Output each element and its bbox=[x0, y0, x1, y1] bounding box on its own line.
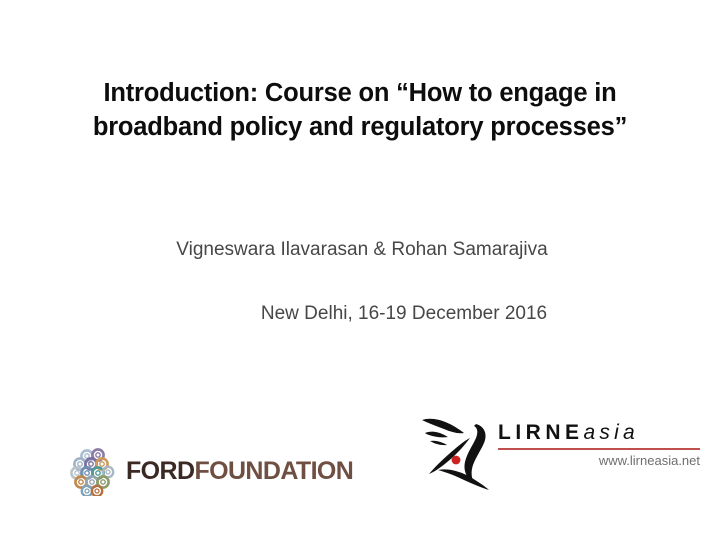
ford-foundation-wordmark: FORDFOUNDATION bbox=[126, 459, 353, 484]
lirneasia-red-dot bbox=[452, 456, 461, 465]
title-line-1: Introduction: Course on “How to engage i… bbox=[60, 76, 660, 110]
slide-subtitle: Vigneswara Ilavarasan & Rohan Samarajiva… bbox=[40, 238, 680, 326]
subtitle-spacer bbox=[40, 262, 680, 302]
lirne-caps: LIRNE bbox=[498, 421, 584, 444]
asia-italic: asia bbox=[584, 421, 639, 444]
title-line-2: broadband policy and regulatory processe… bbox=[60, 110, 660, 144]
presentation-slide: Introduction: Course on “How to engage i… bbox=[0, 0, 720, 540]
lirneasia-text-group: LIRNEasia www.lirneasia.net bbox=[498, 420, 703, 469]
lirneasia-url: www.lirneasia.net bbox=[498, 452, 700, 469]
lirneasia-wordmark: LIRNEasia bbox=[498, 420, 703, 446]
ford-gear-cluster-icon bbox=[70, 446, 117, 496]
foundation-word: FOUNDATION bbox=[194, 459, 353, 484]
lirneasia-brush-bird-icon bbox=[418, 408, 510, 492]
event-location-date-line: New Delhi, 16-19 December 2016 bbox=[40, 302, 680, 326]
lirneasia-logo: LIRNEasia www.lirneasia.net bbox=[418, 406, 703, 492]
ford-word: FORD bbox=[126, 459, 194, 484]
slide-title: Introduction: Course on “How to engage i… bbox=[60, 76, 660, 144]
lirneasia-divider-rule bbox=[498, 448, 700, 450]
ford-foundation-logo: FORDFOUNDATION bbox=[70, 446, 353, 496]
presenters-line: Vigneswara Ilavarasan & Rohan Samarajiva bbox=[40, 238, 680, 262]
